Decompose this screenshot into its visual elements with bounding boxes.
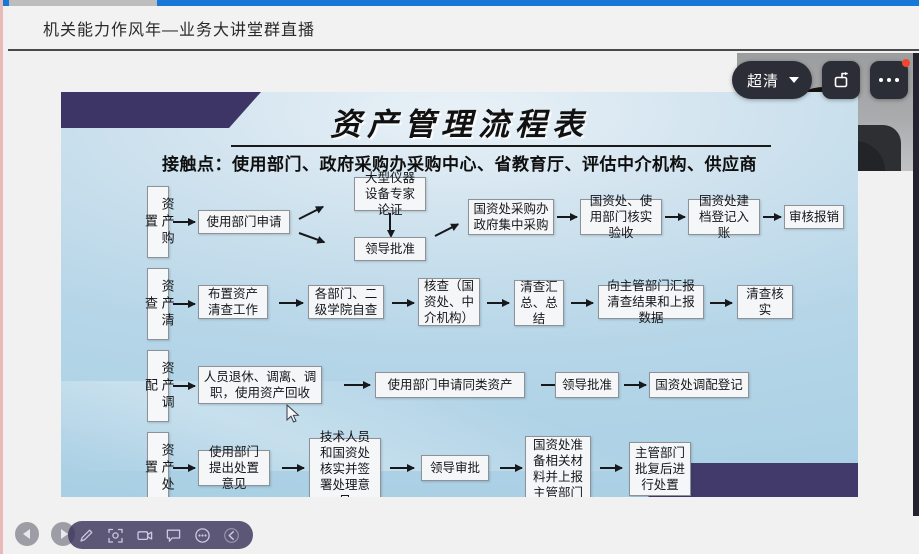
flow-arrow bbox=[600, 467, 622, 469]
flow-arrow bbox=[299, 232, 325, 243]
video-stage[interactable]: 超清 资产管理流程表 接触点：使用部门、政府采购办采购中心、 bbox=[8, 53, 919, 516]
flow-node: 大型仪器设备专家论证 bbox=[354, 177, 426, 211]
flowchart: 资产购置 使用部门申请 大型仪器设备专家论证 领导批准 国资处采购办政府集中采购… bbox=[61, 180, 858, 480]
flow-node: 使用部门申请 bbox=[198, 210, 290, 234]
flow-node: 审核报销 bbox=[784, 205, 844, 229]
stage-label-inventory: 资产清查 bbox=[147, 268, 169, 340]
camera-button[interactable] bbox=[130, 522, 159, 548]
flow-arrow bbox=[487, 302, 509, 304]
flow-arrow bbox=[390, 467, 414, 469]
stage-label-acquisition: 资产购置 bbox=[147, 186, 169, 258]
flow-node: 核查（国资处、中介机构） bbox=[418, 278, 480, 326]
more-dots-icon bbox=[194, 527, 211, 544]
flow-node: 主管部门批复后进行处置 bbox=[629, 442, 691, 496]
floating-meeting-toolbar bbox=[68, 521, 253, 549]
flow-arrow bbox=[173, 385, 195, 387]
flow-node: 国资处采购办政府集中采购 bbox=[468, 199, 554, 235]
flow-node: 领导批准 bbox=[354, 237, 426, 261]
share-screen-icon bbox=[832, 71, 851, 90]
notification-badge bbox=[902, 59, 910, 67]
flow-arrow bbox=[571, 302, 593, 304]
arrow-right-icon bbox=[61, 529, 68, 539]
flow-arrow bbox=[500, 467, 522, 469]
flow-node: 清查汇总、总结 bbox=[514, 280, 564, 326]
flow-node: 国资处、使用部门核实验收 bbox=[580, 199, 662, 235]
stage-label-allocation: 资产调配 bbox=[147, 350, 169, 422]
flow-arrow bbox=[282, 467, 304, 469]
page-title: 机关能力作风年—业务大讲堂群直播 bbox=[43, 16, 315, 40]
flow-arrow bbox=[392, 302, 414, 304]
slide-title: 资产管理流程表 bbox=[61, 99, 858, 144]
flow-arrow bbox=[279, 302, 303, 304]
flow-arrow bbox=[624, 384, 646, 386]
flow-arrow bbox=[763, 216, 781, 218]
annotate-button[interactable] bbox=[72, 522, 101, 548]
bottom-bar bbox=[3, 516, 919, 554]
chevron-left-icon bbox=[223, 527, 240, 544]
share-screen-button[interactable] bbox=[822, 61, 860, 99]
flow-node: 国资处建档登记入账 bbox=[688, 199, 760, 235]
more-options-button[interactable] bbox=[870, 61, 908, 99]
flow-node: 使用部门申请同类资产 bbox=[375, 372, 525, 398]
flow-arrow bbox=[299, 206, 324, 220]
video-control-group: 超清 bbox=[732, 61, 908, 99]
flow-node: 向主管部门汇报清查结果和上报数据 bbox=[598, 285, 704, 319]
chat-bubble-icon bbox=[165, 527, 182, 544]
flow-node: 国资处调配登记 bbox=[649, 372, 749, 398]
camera-icon bbox=[136, 527, 154, 544]
mouse-cursor bbox=[286, 404, 300, 424]
flow-node: 布置资产清查工作 bbox=[198, 285, 268, 319]
quality-selector-label: 超清 bbox=[747, 70, 779, 91]
screenshot-button[interactable] bbox=[101, 522, 130, 548]
screenshot-icon bbox=[107, 527, 124, 544]
more-options-icon bbox=[879, 78, 900, 83]
navigation-group bbox=[15, 522, 75, 546]
flow-node: 人员退休、调离、调职，使用资产回收 bbox=[198, 366, 322, 404]
flow-node: 各部门、二级学院自查 bbox=[308, 285, 384, 319]
title-divider bbox=[231, 145, 771, 147]
flow-node: 领导批准 bbox=[555, 372, 619, 398]
title-bar: 机关能力作风年—业务大讲堂群直播 bbox=[8, 6, 919, 51]
letterbox-band bbox=[913, 53, 919, 516]
flow-arrow bbox=[665, 216, 685, 218]
quality-selector[interactable]: 超清 bbox=[732, 61, 812, 99]
flow-node: 国资处准备相关材料并上报主管部门 bbox=[525, 436, 591, 497]
flow-arrow bbox=[710, 302, 732, 304]
chat-button[interactable] bbox=[159, 522, 188, 548]
flow-arrow bbox=[173, 221, 195, 223]
slide-subtitle: 接触点：使用部门、政府采购办采购中心、省教育厅、评估中介机构、供应商 bbox=[61, 150, 858, 175]
flow-node: 清查核实 bbox=[737, 285, 793, 319]
flow-arrow bbox=[344, 384, 370, 386]
arrow-left-icon bbox=[23, 529, 30, 539]
flow-arrow bbox=[173, 303, 195, 305]
stage-label-disposal: 资产处置 bbox=[147, 432, 169, 497]
pen-icon bbox=[78, 527, 95, 544]
chevron-down-icon bbox=[789, 77, 799, 83]
application-window: 机关能力作风年—业务大讲堂群直播 超清 bbox=[0, 0, 919, 554]
toolbar-more-button[interactable] bbox=[188, 522, 217, 548]
back-button[interactable] bbox=[15, 522, 39, 546]
flow-node: 领导审批 bbox=[421, 455, 489, 481]
flow-node: 技术人员和国资处核实并签署处理意见 bbox=[309, 438, 381, 497]
flow-arrow bbox=[435, 223, 459, 237]
flow-arrow bbox=[173, 467, 195, 469]
collapse-toolbar-button[interactable] bbox=[217, 522, 246, 548]
flow-node: 使用部门提出处置意见 bbox=[198, 450, 270, 486]
shared-slide: 资产管理流程表 接触点：使用部门、政府采购办采购中心、省教育厅、评估中介机构、供… bbox=[61, 92, 858, 497]
flow-arrow bbox=[557, 216, 577, 218]
flow-arrow bbox=[389, 213, 391, 231]
